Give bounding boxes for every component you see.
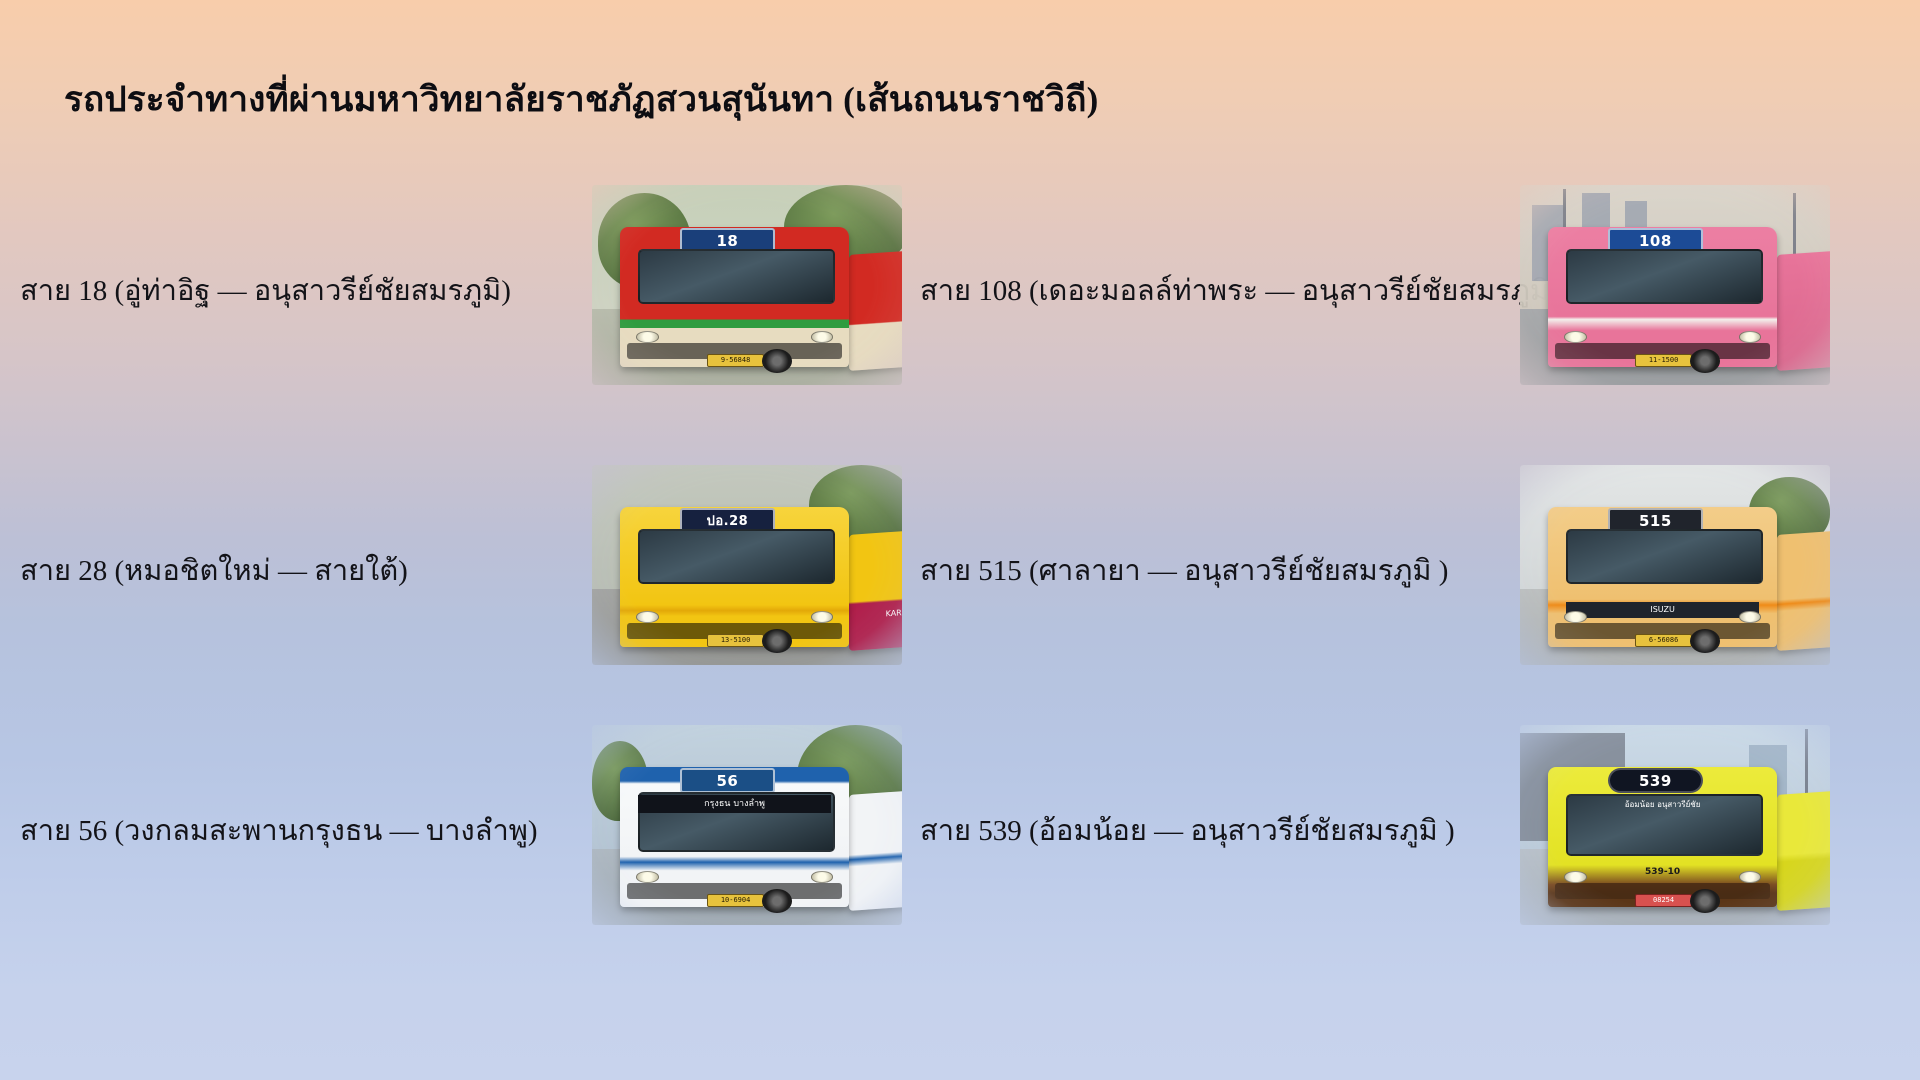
bus-body: 515 ISUZU 6-56086 xyxy=(1548,507,1777,647)
license-plate: 11-1500 xyxy=(1635,354,1692,367)
bus-side-body xyxy=(849,787,902,911)
slide-root: รถประจำทางที่ผ่านมหาวิทยาลัยราชภัฏสวนสุน… xyxy=(0,0,1920,1080)
bus-side-body: KARMART xyxy=(849,527,902,651)
bus-advert-text: KARMART xyxy=(858,597,902,629)
bus-side-body xyxy=(1777,247,1830,371)
wheel-icon xyxy=(1690,629,1720,653)
headlight-icon xyxy=(1739,871,1762,883)
route-list: สาย 18 (อู่ท่าอิฐ — อนุสาวรีย์ชัยสมรภูมิ… xyxy=(0,175,1920,975)
license-plate: 9-56848 xyxy=(707,354,764,367)
bus-destination-board-56: กรุงธน บางลำพู xyxy=(638,795,831,813)
wheel-icon xyxy=(1690,349,1720,373)
headlight-icon xyxy=(1564,871,1587,883)
route-item-18[interactable]: สาย 18 (อู่ท่าอิฐ — อนุสาวรีย์ชัยสมรภูมิ… xyxy=(20,185,920,430)
page-title: รถประจำทางที่ผ่านมหาวิทยาลัยราชภัฏสวนสุน… xyxy=(64,78,1098,122)
license-plate: 13-5100 xyxy=(707,634,764,647)
route-label-28: สาย 28 (หมอชิตใหม่ — สายใต้) xyxy=(20,553,580,591)
windshield xyxy=(1566,249,1763,303)
route-row: สาย 18 (อู่ท่าอิฐ — อนุสาวรีย์ชัยสมรภูมิ… xyxy=(0,185,1920,430)
bus-body: 56 กรุงธน บางลำพู 10-6904 xyxy=(620,767,849,907)
route-row: สาย 28 (หมอชิตใหม่ — สายใต้) KARMART ปอ.… xyxy=(0,465,1920,710)
route-label-515: สาย 515 (ศาลายา — อนุสาวรีย์ชัยสมรภูมิ ) xyxy=(920,553,1510,591)
bus-side-body xyxy=(1777,787,1830,911)
bus-photo-28: KARMART ปอ.28 13-5100 xyxy=(592,465,902,665)
bus-body: ปอ.28 13-5100 xyxy=(620,507,849,647)
license-plate: 10-6904 xyxy=(707,894,764,907)
headlight-icon xyxy=(636,331,659,343)
bus-brand-text: ISUZU xyxy=(1566,602,1759,617)
route-item-515[interactable]: สาย 515 (ศาลายา — อนุสาวรีย์ชัยสมรภูมิ )… xyxy=(920,465,1820,710)
windshield xyxy=(638,529,835,583)
headlight-icon xyxy=(811,871,834,883)
windshield xyxy=(1566,529,1763,583)
bus-body: 18 9-56848 xyxy=(620,227,849,367)
bus-photo-108: 108 11-1500 xyxy=(1520,185,1830,385)
bus-route-sign-539: 539 xyxy=(1608,768,1704,793)
headlight-icon xyxy=(1564,331,1587,343)
bus-photo-56: 56 กรุงธน บางลำพู 10-6904 xyxy=(592,725,902,925)
wheel-icon xyxy=(1690,889,1720,913)
headlight-icon xyxy=(636,871,659,883)
bus-side-body xyxy=(849,247,902,371)
bus-destination-board-539: อ้อมน้อย อนุสาวรีย์ชัย xyxy=(1566,796,1759,814)
headlight-icon xyxy=(1564,611,1587,623)
bus-body: 539 อ้อมน้อย อนุสาวรีย์ชัย 539-10 08254 xyxy=(1548,767,1777,907)
route-label-56: สาย 56 (วงกลมสะพานกรุงธน — บางลำพู) xyxy=(20,813,580,851)
route-label-18: สาย 18 (อู่ท่าอิฐ — อนุสาวรีย์ชัยสมรภูมิ… xyxy=(20,273,580,311)
bus-photo-18: 18 9-56848 xyxy=(592,185,902,385)
bus-side-body xyxy=(1777,527,1830,651)
route-label-539: สาย 539 (อ้อมน้อย — อนุสาวรีย์ชัยสมรภูมิ… xyxy=(920,813,1510,851)
headlight-icon xyxy=(1739,611,1762,623)
bus-route-sign-56: 56 xyxy=(680,768,776,793)
bus-body: 108 11-1500 xyxy=(1548,227,1777,367)
headlight-icon xyxy=(636,611,659,623)
route-item-539[interactable]: สาย 539 (อ้อมน้อย — อนุสาวรีย์ชัยสมรภูมิ… xyxy=(920,725,1820,970)
license-plate: 6-56086 xyxy=(1635,634,1692,647)
bus-photo-515: 515 ISUZU 6-56086 xyxy=(1520,465,1830,665)
license-plate: 08254 xyxy=(1635,894,1692,907)
headlight-icon xyxy=(811,331,834,343)
route-item-56[interactable]: สาย 56 (วงกลมสะพานกรุงธน — บางลำพู) 56 xyxy=(20,725,920,970)
headlight-icon xyxy=(1739,331,1762,343)
route-row: สาย 56 (วงกลมสะพานกรุงธน — บางลำพู) 56 xyxy=(0,725,1920,970)
wheel-icon xyxy=(762,349,792,373)
bus-side-number-539: 539-10 xyxy=(1566,865,1759,880)
route-item-108[interactable]: สาย 108 (เดอะมอลล์ท่าพระ — อนุสาวรีย์ชัย… xyxy=(920,185,1820,430)
route-item-28[interactable]: สาย 28 (หมอชิตใหม่ — สายใต้) KARMART ปอ.… xyxy=(20,465,920,710)
wheel-icon xyxy=(762,889,792,913)
wheel-icon xyxy=(762,629,792,653)
bus-photo-539: 539 อ้อมน้อย อนุสาวรีย์ชัย 539-10 08254 xyxy=(1520,725,1830,925)
headlight-icon xyxy=(811,611,834,623)
route-label-108: สาย 108 (เดอะมอลล์ท่าพระ — อนุสาวรีย์ชัย… xyxy=(920,273,1510,311)
windshield xyxy=(638,249,835,303)
